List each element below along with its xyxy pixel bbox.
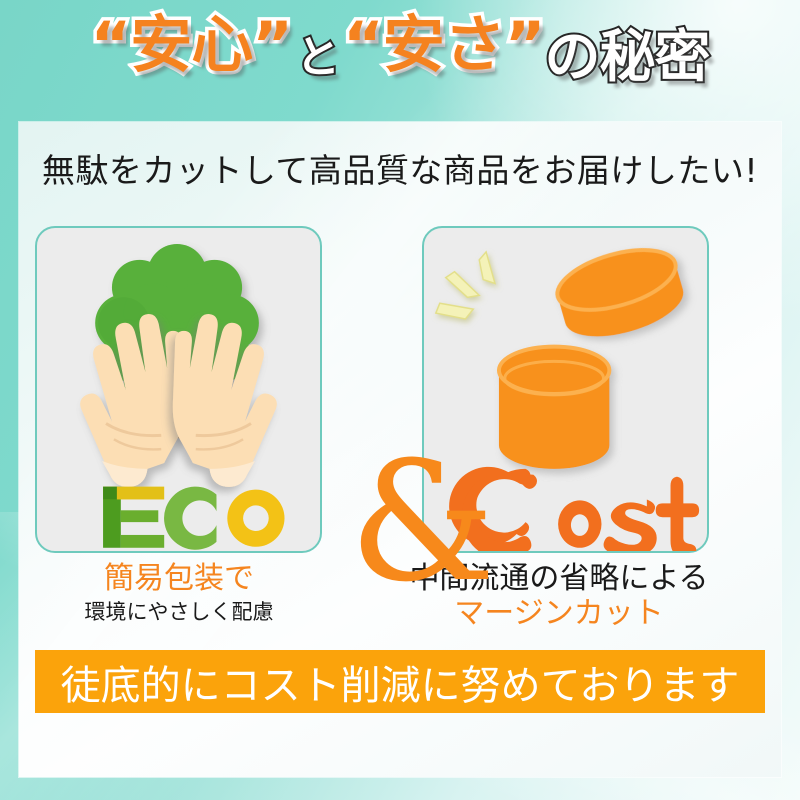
- bottom-banner: 徒底的にコスト削減に努めております: [35, 650, 765, 713]
- title-word-yasusa: 安さ: [383, 14, 505, 76]
- title-word-anshin: 安心: [130, 14, 252, 76]
- title-close-quote: ”: [252, 14, 292, 76]
- eco-logo-glyphs: [103, 487, 284, 550]
- panel-lead-text: 無駄をカットして高品質な商品をお届けしたい!: [19, 144, 781, 192]
- bottom-banner-text: 徒底的にコスト削減に努めております: [61, 653, 740, 711]
- caption-eco-primary: 簡易包装で: [9, 562, 349, 597]
- title-tail-himitsu: の秘密: [545, 30, 710, 86]
- page-title: “安心”と“安さ”の秘密: [0, 14, 800, 114]
- content-panel: 無駄をカットして高品質な商品をお届けしたい!: [19, 122, 781, 777]
- title-close-quote-2: ”: [505, 14, 545, 76]
- coin-lid-tilted: [551, 238, 690, 348]
- page-title-row: “安心”と“安さ”の秘密: [90, 14, 709, 76]
- title-open-quote: “: [90, 14, 130, 76]
- title-open-quote-2: “: [343, 14, 383, 76]
- title-conjunction: と: [296, 36, 339, 80]
- caption-eco-secondary: 環境にやさしく配慮: [9, 599, 349, 625]
- coin-stack-cylinder: [499, 347, 609, 469]
- card-eco: ECO: [35, 226, 322, 553]
- sparkle-marks-icon: [436, 252, 495, 319]
- caption-eco: 簡易包装で 環境にやさしく配慮: [9, 562, 349, 625]
- connector-ampersand: &: [349, 440, 479, 605]
- hands-holding-tree-icon: [37, 228, 320, 551]
